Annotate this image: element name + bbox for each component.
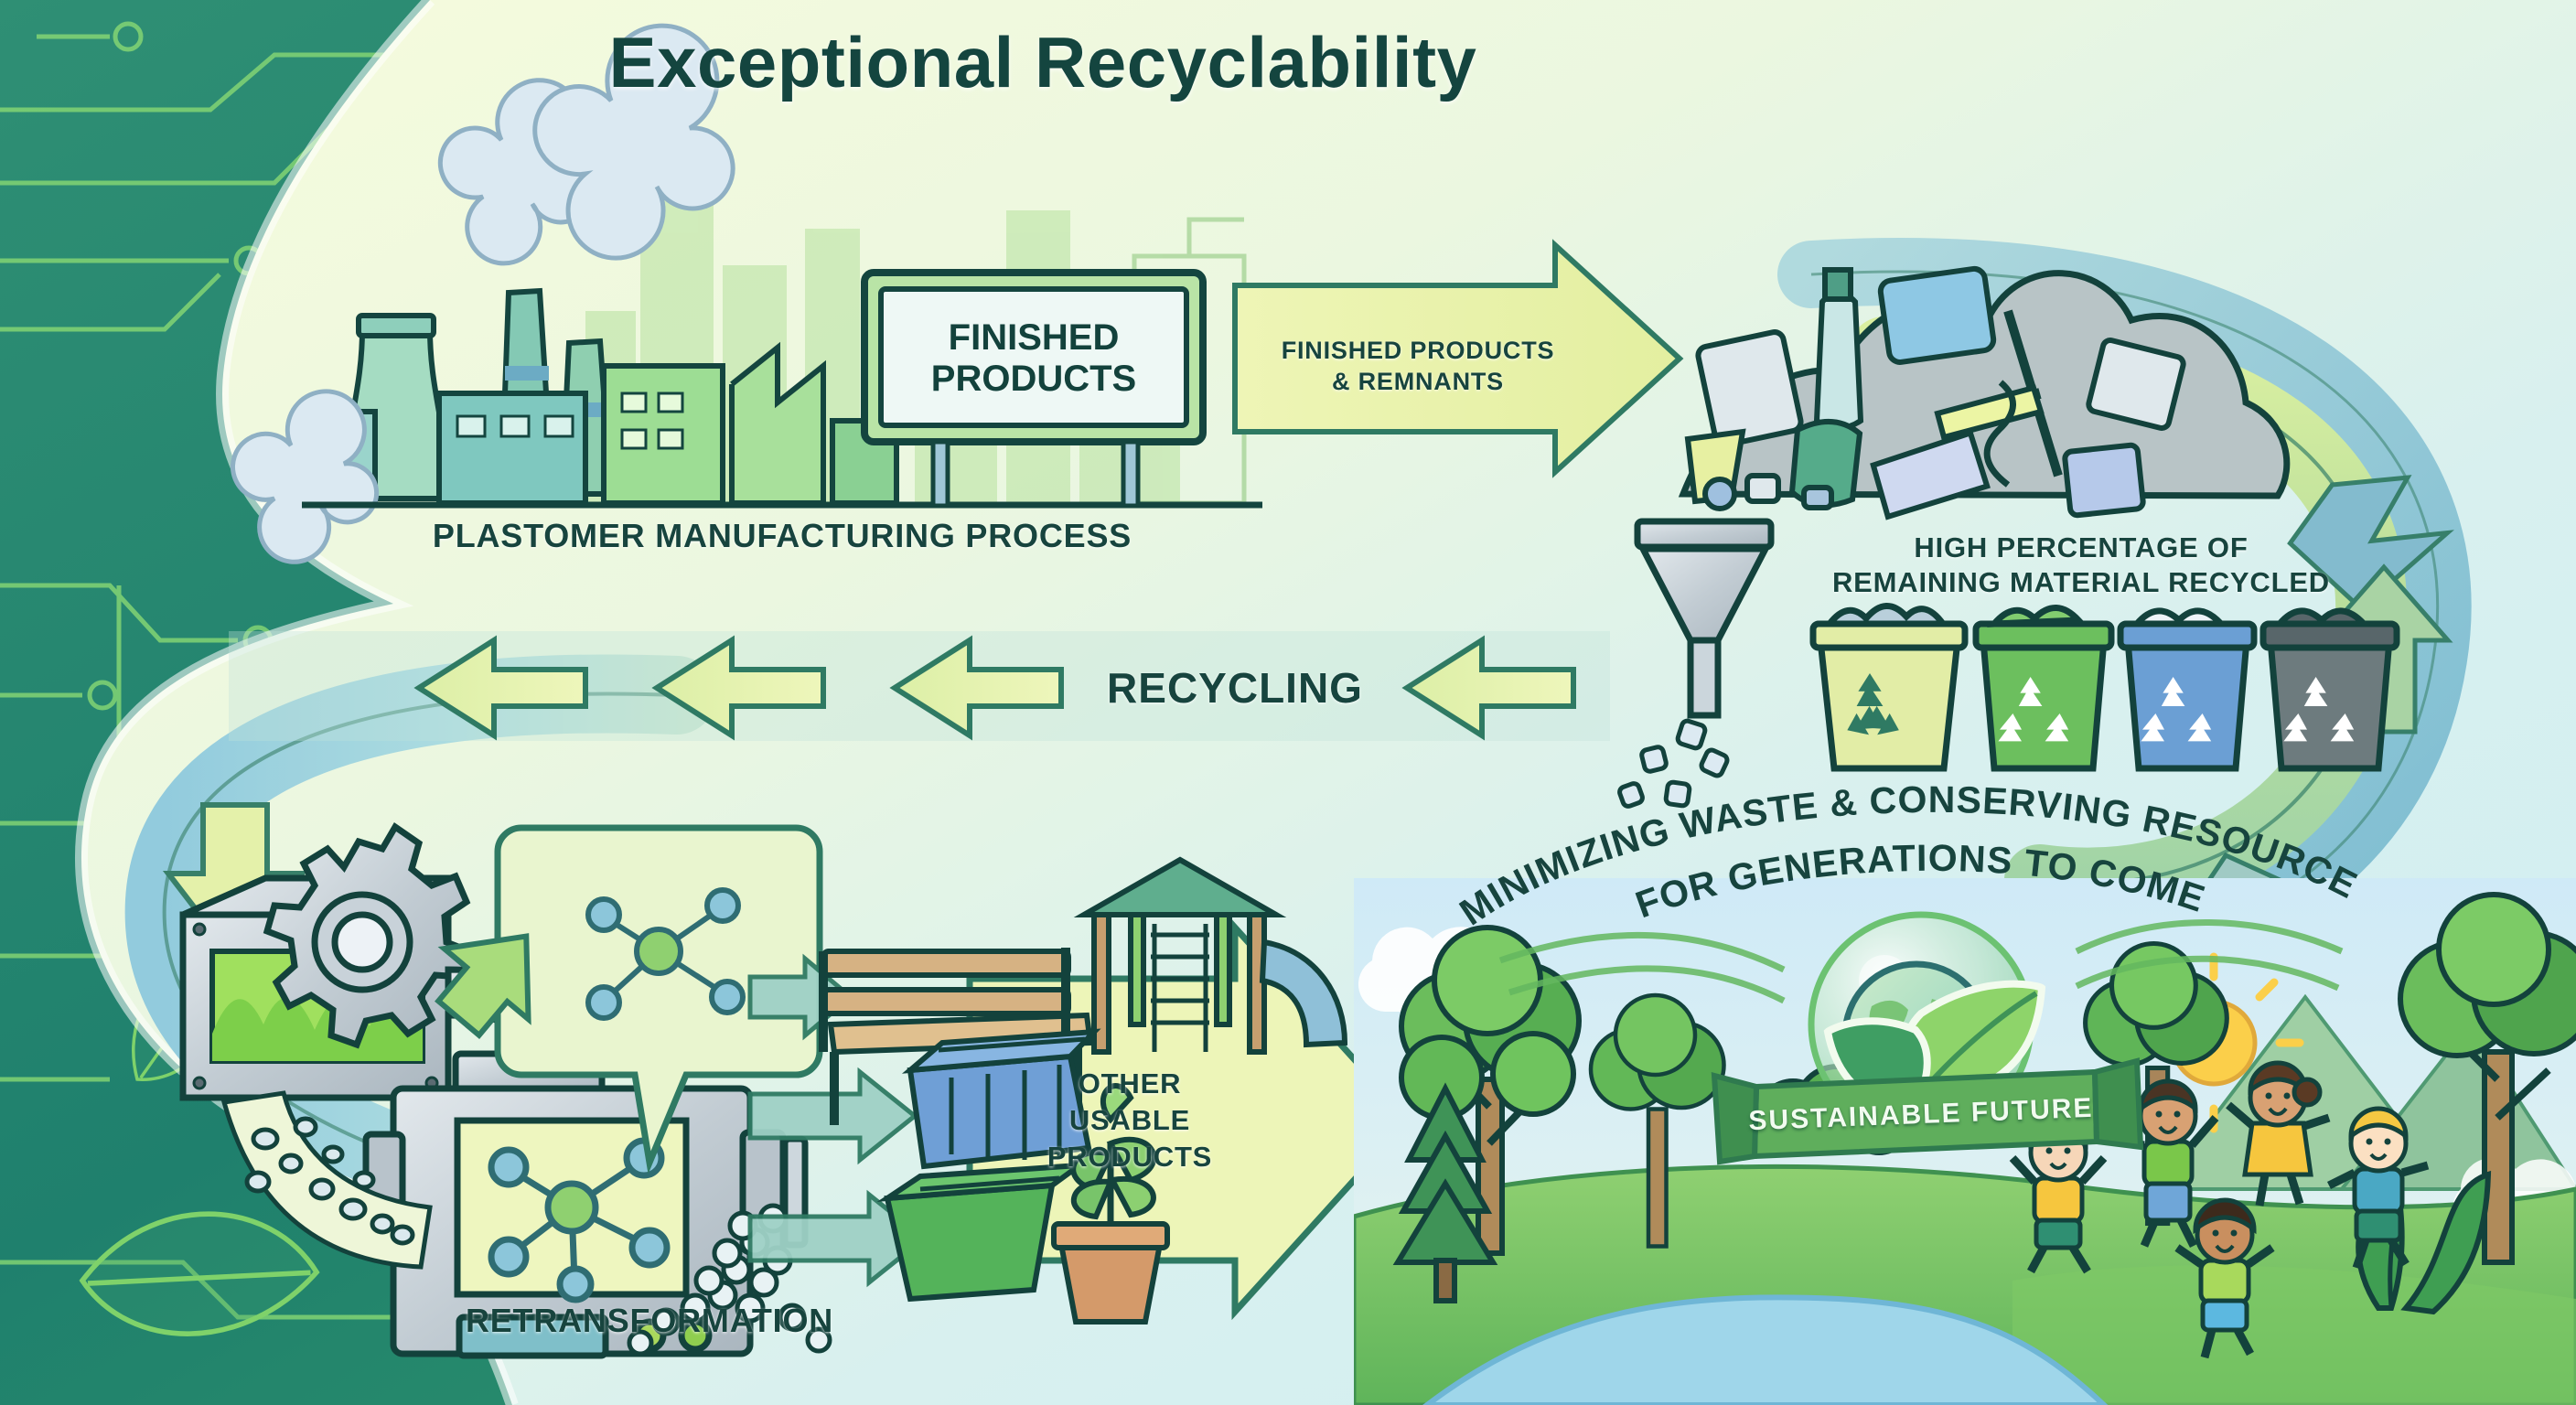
future-curved-text: MINIMIZING WASTE & CONSERVING RESOURCES … bbox=[1464, 750, 2378, 951]
usable-label-line-2: USABLE bbox=[1069, 1102, 1190, 1139]
infographic-canvas: Exceptional Recyclability FINISHED PRODU… bbox=[0, 0, 2576, 1405]
recycled-label-line-1: HIGH PERCENTAGE OF bbox=[1914, 531, 2248, 565]
recycled-percentage-label: HIGH PERCENTAGE OF REMAINING MATERIAL RE… bbox=[1784, 521, 2378, 609]
bin-organic bbox=[1976, 607, 2111, 768]
bin-plastic bbox=[2120, 611, 2254, 768]
sign-line-1: FINISHED bbox=[949, 317, 1120, 359]
recycled-label-line-2: REMAINING MATERIAL RECYCLED bbox=[1832, 565, 2330, 600]
manufacturing-process-label: PLASTOMER MANUFACTURING PROCESS bbox=[302, 512, 1262, 560]
sign-line-2: PRODUCTS bbox=[931, 359, 1136, 400]
bin-paper bbox=[1813, 606, 1965, 768]
finished-products-arrow-label: FINISHED PRODUCTS & REMNANTS bbox=[1235, 326, 1601, 408]
usable-label-line-3: PRODUCTS bbox=[1047, 1139, 1212, 1175]
arrow-label-line-2: & REMNANTS bbox=[1332, 367, 1504, 398]
other-usable-products-label: OTHER USABLE PRODUCTS bbox=[1025, 1043, 1235, 1198]
arrow-label-line-1: FINISHED PRODUCTS bbox=[1282, 336, 1555, 367]
finished-products-sign-text: FINISHED PRODUCTS bbox=[881, 295, 1186, 423]
retransformation-machine bbox=[183, 827, 830, 1356]
usable-label-line-1: OTHER bbox=[1079, 1066, 1182, 1102]
page-title: Exceptional Recyclability bbox=[512, 18, 1573, 106]
retransformation-label: RETRANSFORMATION bbox=[366, 1297, 933, 1345]
bin-general bbox=[2263, 611, 2397, 768]
svg-text:FOR GENERATIONS TO COME: FOR GENERATIONS TO COME bbox=[1630, 837, 2210, 927]
recycling-label: RECYCLING bbox=[1084, 657, 1386, 719]
